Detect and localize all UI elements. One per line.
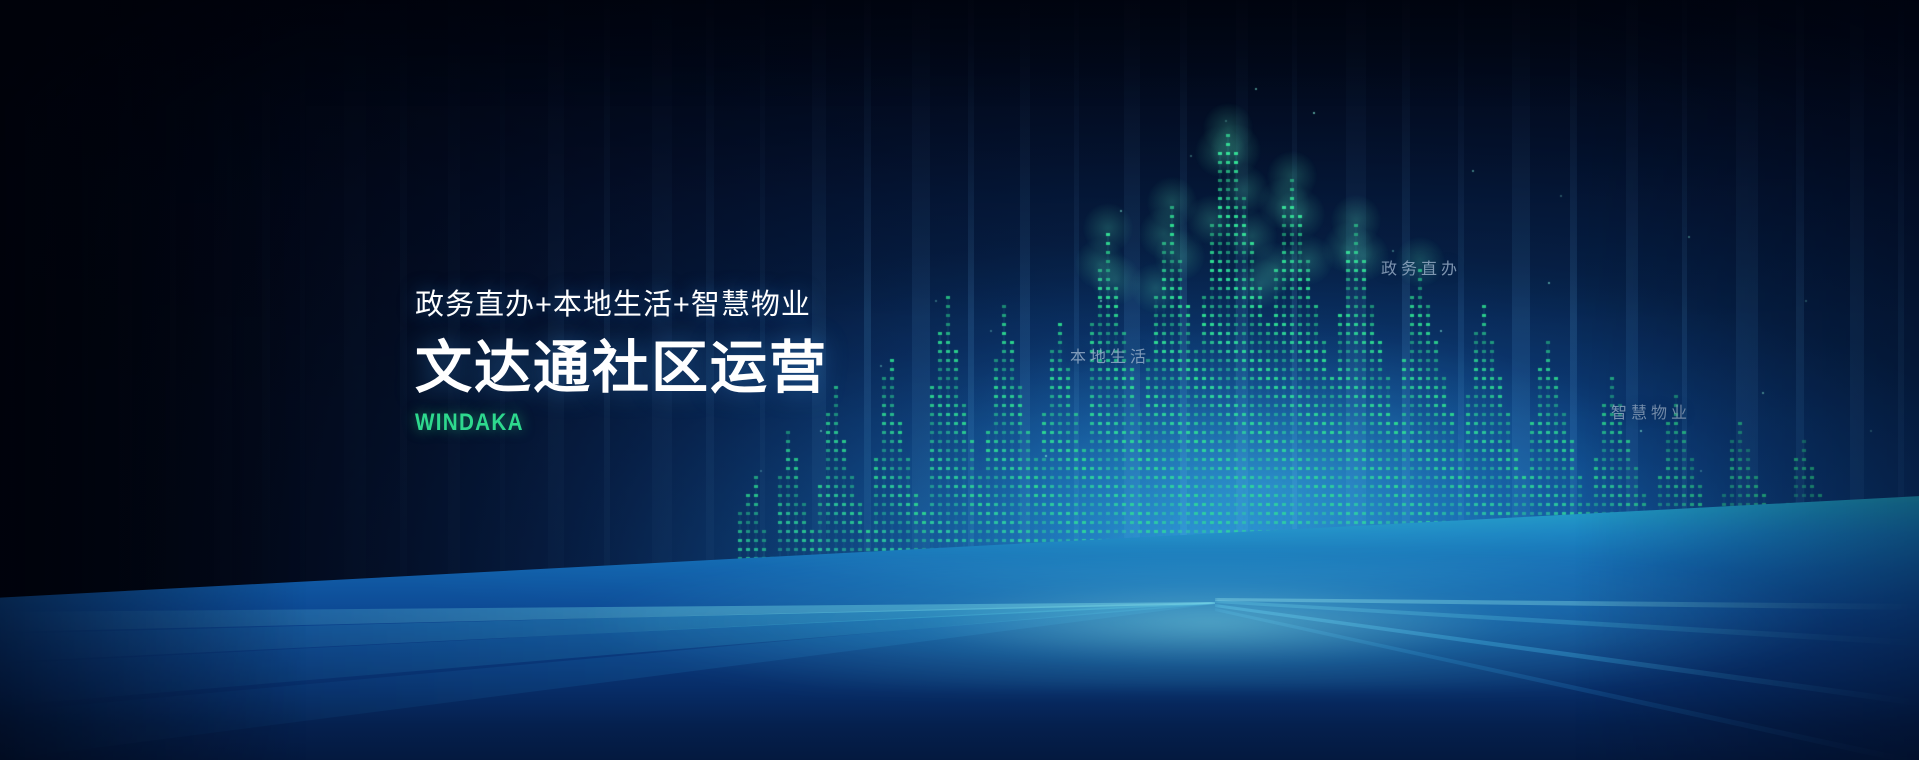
city-label-local-life: 本地生活 (1070, 343, 1150, 367)
horizon-glow (0, 560, 1919, 690)
hero-banner: 政务直办 本地生活 智慧物业 政务直办+本地生活+智慧物业 文达通社区运营 WI… (0, 0, 1919, 760)
city-label-smart-property: 智慧物业 (1611, 399, 1691, 423)
hero-title: 文达通社区运营 (415, 337, 828, 400)
hero-text-block: 政务直办+本地生活+智慧物业 文达通社区运营 WINDAKA (415, 288, 828, 437)
brand-wordmark: WINDAKA (415, 409, 770, 437)
hero-subtitle: 政务直办+本地生活+智慧物业 (415, 288, 828, 323)
city-label-government: 政务直办 (1381, 255, 1461, 279)
